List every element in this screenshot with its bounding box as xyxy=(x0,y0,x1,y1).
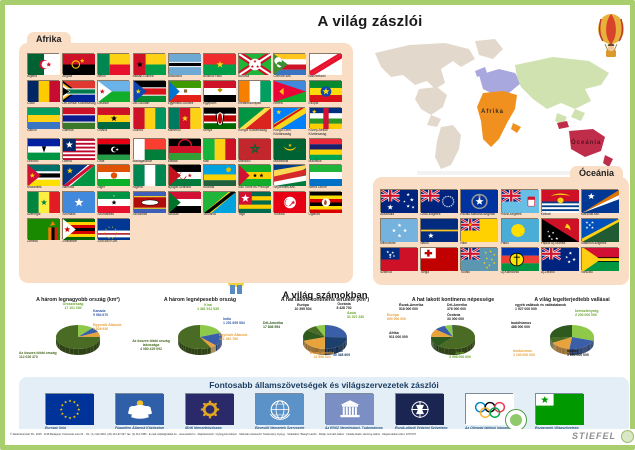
africa-flag-cell[interactable]: Kongói Dem. Köztársaság xyxy=(273,107,308,137)
flag-label: Dzsibuti xyxy=(97,102,132,106)
pie-slice-label: Az összes többi ország lakossága4 080 42… xyxy=(127,339,175,352)
flag-label: Líbia xyxy=(97,160,132,164)
pie-slice-label: Európa690 000 000 xyxy=(387,313,427,321)
flag-label: Botswana xyxy=(168,75,203,79)
flag-icon xyxy=(238,80,270,101)
africa-flag-cell[interactable]: Burkina Faso xyxy=(203,53,238,79)
flag-label: Seychelles-szk. xyxy=(273,186,308,190)
oceania-flag-cell[interactable]: Marshall-szk. xyxy=(581,189,621,217)
flag-icon xyxy=(203,107,235,128)
pie-slice-label: Észak-Amerika24 506 524 xyxy=(299,351,345,359)
flag-icon xyxy=(203,80,235,101)
africa-flag-cell[interactable]: Guinea xyxy=(133,107,168,137)
oceania-flag-cell[interactable]: Ausztrália xyxy=(380,189,420,217)
flag-icon xyxy=(27,191,59,212)
africa-flag-cell[interactable]: Banzbeland xyxy=(309,53,344,79)
pie-slice-label: Kína1 361 512 535 xyxy=(181,303,235,311)
flag-icon xyxy=(203,53,235,74)
flag-label: Lesotho xyxy=(27,160,62,164)
flag-label: Nauru xyxy=(420,242,460,246)
flag-label: Ausztrália xyxy=(380,213,420,217)
oceania-flag-cell[interactable]: Pápua Új-Guinea xyxy=(541,218,581,246)
organization-flag-icon xyxy=(535,393,583,424)
africa-flag-cell[interactable]: Angola xyxy=(62,53,97,79)
flag-icon xyxy=(168,164,200,185)
flag-label: São Tomé és Príncipe xyxy=(238,186,273,190)
oceania-flag-cell[interactable]: Nauru xyxy=(420,218,460,246)
flag-icon xyxy=(309,138,341,159)
flag-label: Kongói Köztársaság xyxy=(238,129,273,133)
africa-flag-cell[interactable]: Madagaszkár xyxy=(133,138,168,164)
flag-icon: ۞ xyxy=(97,191,129,212)
organization-flag-cell[interactable]: Észak-atlanti Védelmi Szövetség (NATO) xyxy=(395,393,465,434)
oceania-flag-cell[interactable]: Mikronézia xyxy=(380,218,420,246)
africa-flag-cell[interactable]: Kenya xyxy=(203,107,238,137)
africa-flag-cell[interactable]: Szomália xyxy=(62,191,97,217)
oceania-panel: Óceánia Ausztrália Cook-szigetek Északi-… xyxy=(373,177,629,285)
flag-label: Namíbia xyxy=(62,186,97,190)
footer: © Stiefel Eurocart Kft., 2015 · 1139 Bud… xyxy=(5,429,635,445)
africa-flag-cell[interactable]: Eritrea xyxy=(273,80,308,106)
organizations-panel: Fontosabb államszövetségek és világszerv… xyxy=(19,377,629,435)
flag-label: Szenegál xyxy=(27,213,62,217)
flag-icon xyxy=(27,80,59,101)
africa-flag-cell[interactable]: Dél-Szudán xyxy=(133,80,168,106)
oceania-flag-cell[interactable]: Vanuatu xyxy=(581,247,621,275)
oceania-flag-cell[interactable]: Új-Kaledónia xyxy=(501,247,541,275)
flag-label: Banzbeland xyxy=(309,75,344,79)
flag-icon xyxy=(273,164,305,185)
africa-flag-cell[interactable]: Marokkó xyxy=(238,138,273,164)
africa-panel: Afrika Algéria AngolaBeninBissau-GuineaB… xyxy=(19,43,353,283)
africa-flag-cell[interactable]: ۞Szomáliföld xyxy=(97,191,132,217)
chart-continent-area: A hat lakott kontinens területe (km²) Áz… xyxy=(263,297,387,363)
flag-icon xyxy=(581,218,618,241)
flag-icon xyxy=(541,218,578,241)
flag-icon xyxy=(168,138,200,159)
flag-label: Burundi xyxy=(238,75,273,79)
flag-label: Tuvalu xyxy=(460,271,500,275)
flag-label: Kongói Dem. Köztársaság xyxy=(273,129,308,137)
chart-canvas: Ázsia31 027 230Afrika30 368 609Észak-Ame… xyxy=(263,303,387,363)
flag-icon xyxy=(27,164,59,185)
oceania-flag-cell[interactable]: Niue xyxy=(460,218,500,246)
flag-icon xyxy=(460,247,497,270)
flag-icon xyxy=(541,189,578,212)
chart-world-religions: A világ legelterjedtebb vallásai kereszt… xyxy=(513,297,631,363)
flag-label: Kiribati xyxy=(541,213,581,217)
chart-canvas: kereszténység2 200 000 000iszlám1 600 00… xyxy=(513,303,631,363)
organization-flag-cell[interactable]: Európai Unió xyxy=(45,393,115,434)
flag-label: Etiópia xyxy=(309,102,344,106)
chart-canvas: Oroszország17 101 330Kanada9 984 670Egye… xyxy=(19,303,137,363)
publisher-logo: STIEFEL xyxy=(572,431,616,441)
flag-label: Mauritánia xyxy=(273,160,308,164)
chart-continent-population: A hat lakott kontinens népessége Ázsia3 … xyxy=(391,297,515,363)
pie-slice-label: Európa10 395 504 xyxy=(283,303,323,311)
flag-label: Eritrea xyxy=(273,102,308,106)
flag-label: Mozambik xyxy=(27,186,62,190)
flag-label: Szamoa xyxy=(380,271,420,275)
flag-label: Mauritius xyxy=(309,160,344,164)
flag-label: Niger xyxy=(97,186,132,190)
organization-flag-cell[interactable]: Eszperantó Világszövetség xyxy=(535,393,605,434)
flag-label: Tunézia xyxy=(273,213,308,217)
flag-label: Sierra Leone xyxy=(309,186,344,190)
africa-flag-cell[interactable]: Egyenlítői-Guinea xyxy=(168,80,203,106)
flag-icon xyxy=(501,218,538,241)
pie-slice-label: Dél-Amerika376 000 000 xyxy=(447,303,491,311)
flag-icon xyxy=(97,80,129,101)
flag-label: Dél-Szudán xyxy=(133,102,168,106)
flag-icon xyxy=(133,80,165,101)
africa-flag-cell[interactable]: Zambia xyxy=(27,218,62,244)
pie-slice-label: Egyesült Államok321 362 789 xyxy=(219,333,259,341)
organizations-title: Fontosabb államszövetségek és világszerv… xyxy=(19,380,629,390)
africa-flag-cell[interactable]: Botswana xyxy=(168,53,203,79)
flag-label: Nigéria xyxy=(133,186,168,190)
organization-flag-cell[interactable]: Egyesült Nemzetek Szervezete xyxy=(255,393,325,434)
flag-label: Madagaszkár xyxy=(133,160,168,164)
flag-label: Gambia xyxy=(62,129,97,133)
footer-imprint: © Stiefel Eurocart Kft., 2015 · 1139 Bud… xyxy=(10,433,416,436)
flag-icon xyxy=(97,107,129,128)
africa-flag-cell[interactable]: Mauritánia xyxy=(273,138,308,164)
flag-icon xyxy=(420,247,457,270)
flag-icon xyxy=(273,53,305,74)
flag-label: Algéria xyxy=(27,75,62,79)
flag-label: Új-Zéland xyxy=(541,271,581,275)
africa-flag-cell[interactable]: Mali xyxy=(203,138,238,164)
flag-icon xyxy=(309,191,341,212)
pie-slice-label: Afrika911 000 000 xyxy=(389,331,431,339)
flag-label: Comore-szk. xyxy=(273,75,308,79)
oceania-flag-cell[interactable]: Palau xyxy=(501,218,541,246)
pie-slice xyxy=(550,325,572,338)
flag-icon xyxy=(238,191,270,212)
flag-icon xyxy=(273,80,305,101)
flag-icon xyxy=(238,53,270,74)
oceania-flag-cell[interactable]: Tonga xyxy=(420,247,460,275)
pie-slice-label: Ázsia31 027 230 xyxy=(347,311,385,319)
oceania-flag-cell[interactable]: Szamoa xyxy=(380,247,420,275)
oceania-flag-cell[interactable]: Salamon-szigetek xyxy=(581,218,621,246)
africa-flag-cell[interactable]: Csád xyxy=(27,80,62,106)
flag-label: Zöld-foki Közt. xyxy=(97,240,132,244)
africa-flag-cell[interactable]: Seychelles-szk. xyxy=(273,164,308,190)
flag-icon xyxy=(133,138,165,159)
flag-icon xyxy=(62,191,94,212)
flag-label: Palau xyxy=(501,242,541,246)
poster: A világ zászlói xyxy=(0,0,635,450)
chart-most-populous-countries: A három legnépesebb ország Kína1 361 512… xyxy=(141,297,259,363)
africa-flag-cell[interactable]: Tanzánia xyxy=(203,191,238,217)
flag-icon xyxy=(168,80,200,101)
africa-flag-cell[interactable]: Szváziföld xyxy=(133,191,168,217)
flag-label: Bissau-Guinea xyxy=(133,75,168,79)
flag-icon xyxy=(97,138,129,159)
pie-slice-label: Egyesült Államok9 826 630 xyxy=(93,323,137,331)
africa-flag-cell[interactable]: Uganda xyxy=(309,191,344,217)
organization-flag-cell[interactable]: (Brit) Nemzetközösség xyxy=(185,393,255,434)
pie-slice-label: Oroszország17 101 330 xyxy=(49,302,97,310)
africa-flag-cell[interactable]: Comore-szk. xyxy=(273,53,308,79)
flag-icon xyxy=(62,80,94,101)
africa-flag-cell[interactable]: Mozambik xyxy=(27,164,62,190)
pie-slice-label: Az összes többi ország112 026 470 xyxy=(19,351,75,359)
map-label-oceania: Óceánia xyxy=(571,140,601,146)
flag-icon xyxy=(97,164,129,185)
flag-label: Vanuatu xyxy=(581,271,621,275)
oceania-flag-cell[interactable]: Kiribati xyxy=(541,189,581,217)
africa-flag-cell[interactable]: Burundi xyxy=(238,53,273,79)
flag-label: Zambia xyxy=(27,240,62,244)
flag-icon xyxy=(581,247,618,270)
africa-flag-cell[interactable]: Togo xyxy=(238,191,273,217)
africa-flag-cell[interactable]: Zimbabwe xyxy=(62,218,97,244)
flag-icon xyxy=(97,53,129,74)
hot-air-balloon-decoration xyxy=(593,13,629,66)
flag-icon xyxy=(380,189,417,212)
africa-flag-cell[interactable]: Mauritius xyxy=(309,138,344,164)
pie-slice-label: Óceánia8 428 702 xyxy=(325,302,363,310)
africa-flag-cell[interactable]: Ghána xyxy=(97,107,132,137)
africa-flag-cell[interactable]: Bissau-Guinea xyxy=(133,53,168,79)
flag-label: Pápua Új-Guinea xyxy=(541,242,581,246)
organization-flag-cell[interactable]: Az ENSZ Nevelésügyi, Tudományos és Kultu… xyxy=(325,393,395,434)
flag-label: Ghána xyxy=(97,129,132,133)
pie-slice-label: Kanada9 984 670 xyxy=(93,309,133,317)
africa-flag-cell[interactable]: Sierra Leone xyxy=(309,164,344,190)
pie-slice-label: India1 251 695 584 xyxy=(223,317,259,325)
africa-flag-cell[interactable]: Niger xyxy=(97,164,132,190)
pie-slice-label: kereszténység2 200 000 000 xyxy=(575,309,627,317)
chart-largest-countries: A három legnagyobb ország (km²) Oroszors… xyxy=(19,297,137,363)
africa-flag-cell[interactable]: Benin xyxy=(97,53,132,79)
flag-label: Egyenlítői-Guinea xyxy=(168,102,203,106)
world-map-svg xyxy=(357,27,629,175)
flag-label: Ruanda xyxy=(203,186,238,190)
flag-icon xyxy=(273,138,305,159)
eco-certification-logo xyxy=(505,409,527,431)
flag-icon xyxy=(62,53,94,74)
pie-slice-label: Óceánia33 000 000 xyxy=(447,313,491,321)
flag-label: Északi-Mariana-szigetek xyxy=(460,213,500,217)
oceania-flag-cell[interactable]: Északi-Mariana-szigetek xyxy=(460,189,500,217)
oceania-flag-cell[interactable]: Fidzsi-szigetek xyxy=(501,189,541,217)
flag-label: Fidzsi-szigetek xyxy=(501,213,541,217)
chart-canvas: Ázsia3 998 000 000Afrika911 000 000Európ… xyxy=(391,303,515,363)
flag-label: Libéria xyxy=(62,160,97,164)
flag-icon xyxy=(501,189,538,212)
africa-flag-cell[interactable]: Nyugat-Szahara xyxy=(168,164,203,190)
flag-icon xyxy=(168,107,200,128)
flag-label: Új-Kaledónia xyxy=(501,271,541,275)
flag-icon xyxy=(133,107,165,128)
flag-icon xyxy=(238,164,270,185)
flag-label: Nyugat-Szahara xyxy=(168,186,203,190)
flag-icon xyxy=(27,107,59,128)
flag-label: Szomáliföld xyxy=(97,213,132,217)
poster-inner: A világ zászlói xyxy=(5,5,630,445)
flag-label: Gabon xyxy=(27,129,62,133)
africa-flag-cell[interactable]: Gabon xyxy=(27,107,62,137)
flag-icon xyxy=(238,138,270,159)
flag-label: Marokkó xyxy=(238,160,273,164)
flag-icon xyxy=(309,107,341,128)
flag-label: Guinea xyxy=(133,129,168,133)
flag-label: Kenya xyxy=(203,129,238,133)
flag-icon xyxy=(420,218,457,241)
flag-label: Angola xyxy=(62,75,97,79)
flag-label: Niue xyxy=(460,242,500,246)
flag-label: Csád xyxy=(27,102,62,106)
flag-icon xyxy=(581,189,618,212)
africa-flag-cell[interactable]: São Tomé és Príncipe xyxy=(238,164,273,190)
africa-flag-cell[interactable]: Közép-Afrikai Köztársaság xyxy=(309,107,344,137)
flag-icon xyxy=(460,189,497,212)
flag-label: Tonga xyxy=(420,271,460,275)
africa-flag-cell[interactable]: Tunézia xyxy=(273,191,308,217)
africa-flag-cell[interactable]: Dél-Afrikai Köztársaság xyxy=(62,80,97,106)
africa-flag-cell[interactable]: Szudán xyxy=(168,191,203,217)
flag-label: Tanzánia xyxy=(203,213,238,217)
footer-badge-icon xyxy=(621,430,634,443)
flag-label: Egyiptom xyxy=(203,102,238,106)
pie-slice-label: Észak-Amerika518 000 000 xyxy=(399,303,443,311)
organization-flag-cell[interactable]: Független Államok Közössége xyxy=(115,393,185,434)
africa-flag-cell[interactable]: Libéria xyxy=(62,138,97,164)
flag-icon xyxy=(203,138,235,159)
organization-flag-icon xyxy=(45,393,93,424)
pie-slice-label: egyéb vallások és vallástalanok1 927 000… xyxy=(515,303,577,311)
flag-icon xyxy=(27,218,59,239)
flag-label: Uganda xyxy=(309,213,344,217)
flag-icon xyxy=(62,164,94,185)
flag-icon xyxy=(133,53,165,74)
africa-flag-cell[interactable]: Kongói Köztársaság xyxy=(238,107,273,137)
flag-icon xyxy=(133,191,165,212)
flag-icon xyxy=(62,107,94,128)
oceania-flag-grid: Ausztrália Cook-szigetek Északi-Mariana-… xyxy=(380,189,623,276)
africa-flag-cell[interactable]: Lesotho xyxy=(27,138,62,164)
flag-icon xyxy=(380,247,417,270)
flag-label: Zimbabwe xyxy=(62,240,97,244)
africa-flag-cell[interactable]: Algéria xyxy=(27,53,62,79)
flag-label: Mikronézia xyxy=(380,242,420,246)
pie-slice-label: buddhizmus488 000 000 xyxy=(511,321,551,329)
africa-flag-cell[interactable]: Ruanda xyxy=(203,164,238,190)
flag-label: Marshall-szk. xyxy=(581,213,621,217)
africa-flag-cell[interactable]: Elefántcsontpart xyxy=(238,80,273,106)
oceania-panel-tab: Óceánia xyxy=(570,166,623,179)
flag-icon xyxy=(309,164,341,185)
africa-flag-cell[interactable]: Egyiptom xyxy=(203,80,238,106)
flag-icon xyxy=(541,247,578,270)
flag-label: Benin xyxy=(97,75,132,79)
flag-label: Közép-Afrikai Köztársaság xyxy=(309,129,344,137)
flag-icon xyxy=(460,218,497,241)
flag-icon xyxy=(203,164,235,185)
africa-flag-cell[interactable]: Namíbia xyxy=(62,164,97,190)
flag-label: Mali xyxy=(203,160,238,164)
organization-flag-icon xyxy=(255,393,303,424)
flag-icon xyxy=(62,138,94,159)
flag-icon xyxy=(273,191,305,212)
flag-label: Szváziföld xyxy=(133,213,168,217)
flag-label: Burkina Faso xyxy=(203,75,238,79)
chart-canvas: Kína1 361 512 535India1 251 695 584Egyes… xyxy=(141,303,259,363)
flag-label: Cook-szigetek xyxy=(420,213,460,217)
flag-icon xyxy=(238,107,270,128)
flag-label: Dél-Afrikai Köztársaság xyxy=(62,102,97,106)
flag-icon xyxy=(168,53,200,74)
africa-flag-cell[interactable]: Etiópia xyxy=(309,80,344,106)
pie-slice xyxy=(325,325,347,337)
flag-label: Elefántcsontpart xyxy=(238,102,273,106)
flag-icon xyxy=(380,218,417,241)
flag-icon xyxy=(203,191,235,212)
flag-icon xyxy=(62,218,94,239)
flag-icon xyxy=(309,53,341,74)
africa-flag-cell[interactable]: Nigéria xyxy=(133,164,168,190)
organization-flag-icon xyxy=(115,393,163,424)
africa-flag-cell[interactable]: Gambia xyxy=(62,107,97,137)
flag-label: Malawi xyxy=(168,160,203,164)
oceania-flag-cell[interactable]: Cook-szigetek xyxy=(420,189,460,217)
africa-flag-cell[interactable]: Kamerun xyxy=(168,107,203,137)
flag-icon xyxy=(501,247,538,270)
africa-flag-cell[interactable]: Dzsibuti xyxy=(97,80,132,106)
flag-icon xyxy=(309,80,341,101)
pie-slice-label: Ázsia3 998 000 000 xyxy=(433,351,487,359)
africa-panel-tab: Afrika xyxy=(27,32,71,45)
africa-flag-grid: Algéria AngolaBeninBissau-GuineaBotswana… xyxy=(27,53,347,245)
flag-icon xyxy=(97,218,129,239)
africa-flag-cell[interactable]: Líbia xyxy=(97,138,132,164)
flag-label: Togo xyxy=(238,213,273,217)
africa-flag-cell[interactable]: Zöld-foki Közt. xyxy=(97,218,132,244)
organization-flag-icon xyxy=(185,393,233,424)
map-label-afrika: Afrika xyxy=(481,109,504,115)
flag-icon xyxy=(27,138,59,159)
oceania-flag-cell[interactable]: Új-Zéland xyxy=(541,247,581,275)
flag-label: Szudán xyxy=(168,213,203,217)
pie-slice-label: iszlám1 600 000 000 xyxy=(567,349,613,357)
pie-slice-label: hinduizmus1 100 000 000 xyxy=(513,349,559,357)
organization-flag-icon xyxy=(395,393,443,424)
flag-icon xyxy=(133,164,165,185)
organization-flag-icon xyxy=(325,393,373,424)
flag-icon xyxy=(168,191,200,212)
flag-label: Szomália xyxy=(62,213,97,217)
africa-flag-cell[interactable]: Szenegál xyxy=(27,191,62,217)
flag-icon xyxy=(27,53,59,74)
pie-slice-label: Dél-Amerika17 846 954 xyxy=(263,321,303,329)
africa-flag-cell[interactable]: Malawi xyxy=(168,138,203,164)
world-map: Afrika Óceánia xyxy=(357,27,629,175)
flag-icon xyxy=(273,107,305,128)
flag-icon xyxy=(420,189,457,212)
oceania-flag-cell[interactable]: Tuvalu xyxy=(460,247,500,275)
flag-label: Salamon-szigetek xyxy=(581,242,621,246)
flag-label: Kamerun xyxy=(168,129,203,133)
